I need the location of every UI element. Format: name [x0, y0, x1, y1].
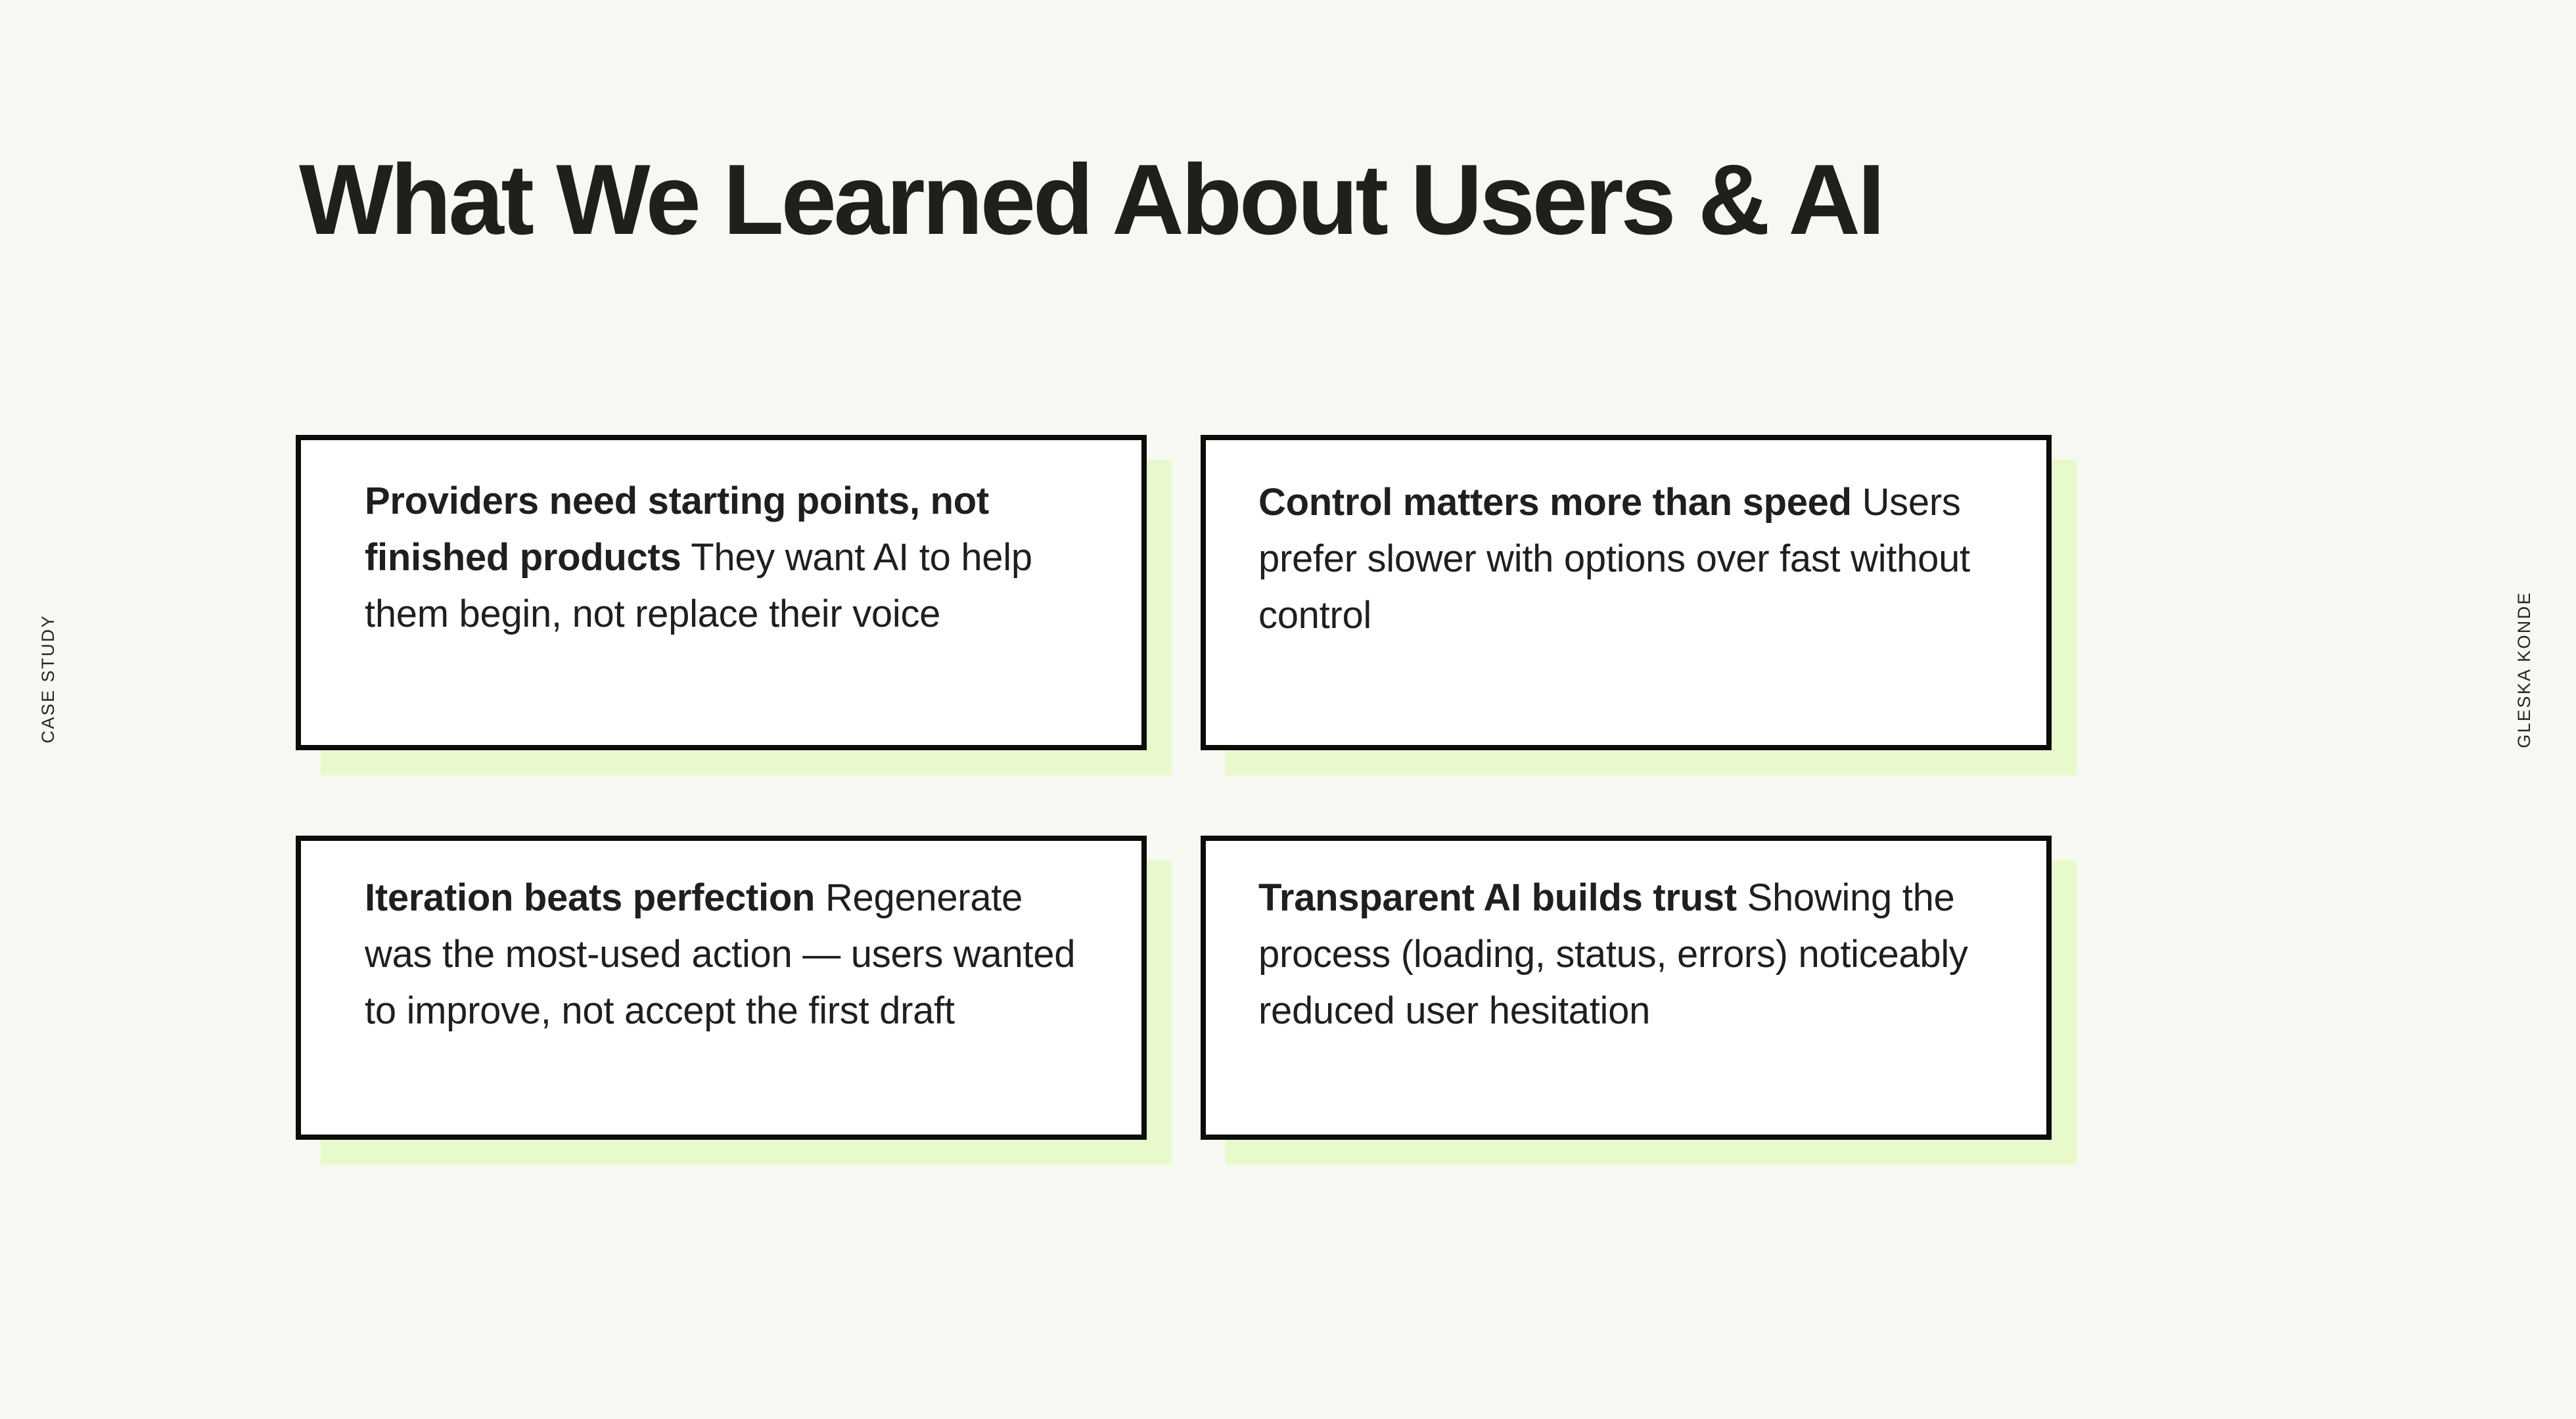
card-lead: Iteration beats perfection	[365, 876, 815, 919]
side-label-case-study: CASE STUDY	[38, 614, 58, 744]
insight-card-grid: Providers need starting points, not fini…	[296, 435, 2052, 1140]
slide-canvas: What We Learned About Users & AI CASE ST…	[0, 0, 2576, 1419]
card-body: Providers need starting points, not fini…	[296, 435, 1147, 750]
insight-card-4[interactable]: Transparent AI builds trust Showing the …	[1201, 836, 2052, 1140]
card-text: Control matters more than speed Users pr…	[1258, 474, 1995, 644]
page-title: What We Learned About Users & AI	[299, 150, 1882, 250]
card-lead: Control matters more than speed	[1258, 481, 1852, 524]
insight-card-1[interactable]: Providers need starting points, not fini…	[296, 435, 1147, 750]
insight-card-3[interactable]: Iteration beats perfection Regenerate wa…	[296, 836, 1147, 1140]
card-lead: Transparent AI builds trust	[1258, 876, 1737, 919]
side-label-brand: GLESKA KONDE	[2514, 591, 2535, 748]
card-text: Transparent AI builds trust Showing the …	[1258, 870, 1995, 1039]
card-text: Iteration beats perfection Regenerate wa…	[365, 870, 1090, 1039]
card-text: Providers need starting points, not fini…	[365, 473, 1090, 642]
card-body: Iteration beats perfection Regenerate wa…	[296, 836, 1147, 1140]
card-body: Control matters more than speed Users pr…	[1201, 435, 2052, 750]
insight-card-2[interactable]: Control matters more than speed Users pr…	[1201, 435, 2052, 750]
card-body: Transparent AI builds trust Showing the …	[1201, 836, 2052, 1140]
